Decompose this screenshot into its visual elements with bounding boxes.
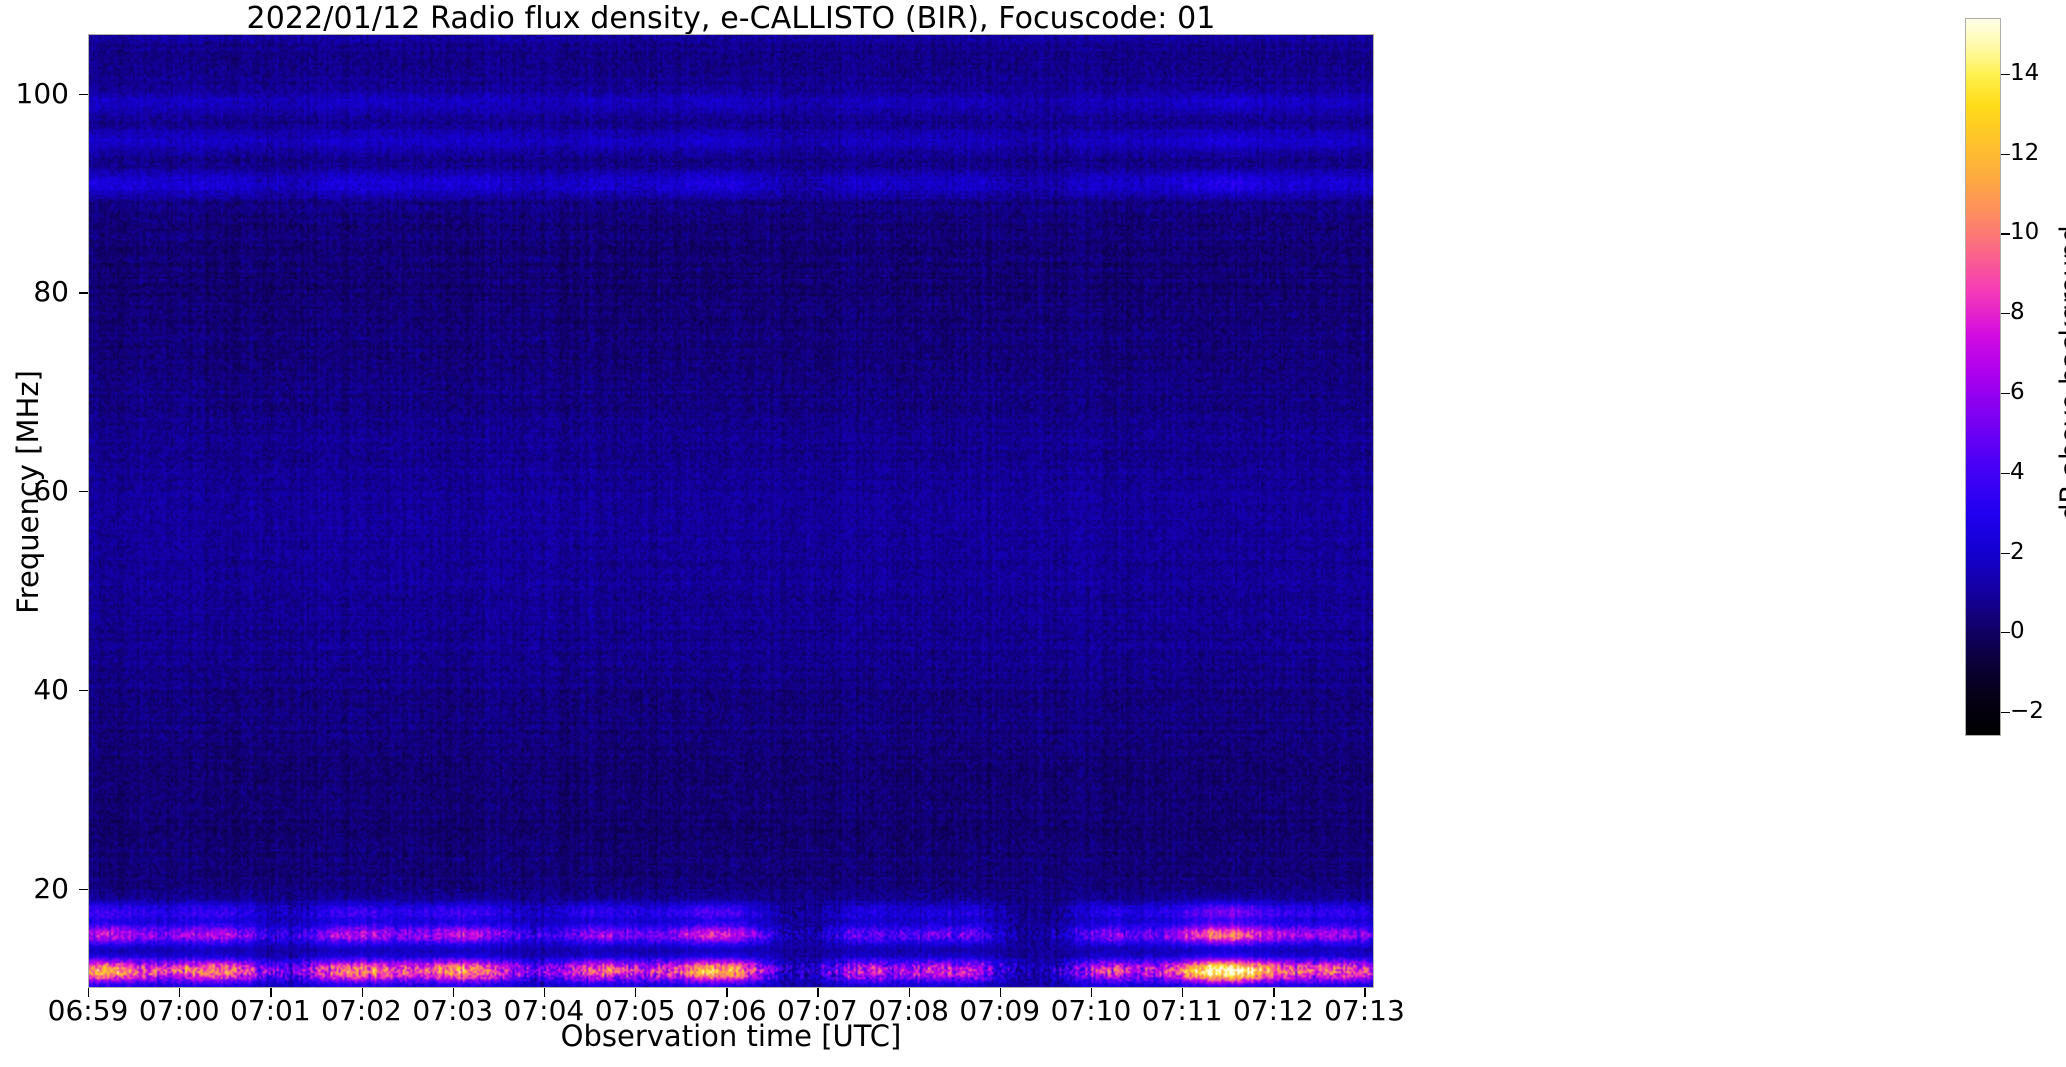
colorbar-tick-mark [2001, 473, 2010, 474]
y-tick-mark [79, 690, 88, 691]
figure-canvas: 2022/01/12 Radio flux density, e-CALLIST… [0, 0, 2066, 1067]
colorbar-tick-mark [2001, 74, 2010, 75]
colorbar-tick-mark [2001, 553, 2010, 554]
colorbar-gradient [1965, 18, 2001, 736]
colorbar-tick-mark [2001, 154, 2010, 155]
y-tick-mark [79, 292, 88, 293]
colorbar-tick-mark [2001, 712, 2010, 713]
colorbar-tick-mark [2001, 632, 2010, 633]
y-axis-label: Frequency [MHz] [13, 15, 43, 969]
y-tick-mark [79, 889, 88, 890]
colorbar-label: dB above background [2057, 14, 2066, 732]
x-axis-label: Observation time [UTC] [88, 1020, 1374, 1052]
spectrogram-image [89, 35, 1373, 987]
colorbar-tick-mark [2001, 393, 2010, 394]
colorbar[interactable]: 14121086420−2 [1965, 18, 2001, 736]
colorbar-tick-mark [2001, 313, 2010, 314]
colorbar-tick-mark [2001, 233, 2010, 234]
y-tick-mark [79, 94, 88, 95]
page-title: 2022/01/12 Radio flux density, e-CALLIST… [0, 2, 1462, 36]
spectrogram-axes[interactable] [88, 34, 1374, 988]
y-tick-mark [79, 491, 88, 492]
